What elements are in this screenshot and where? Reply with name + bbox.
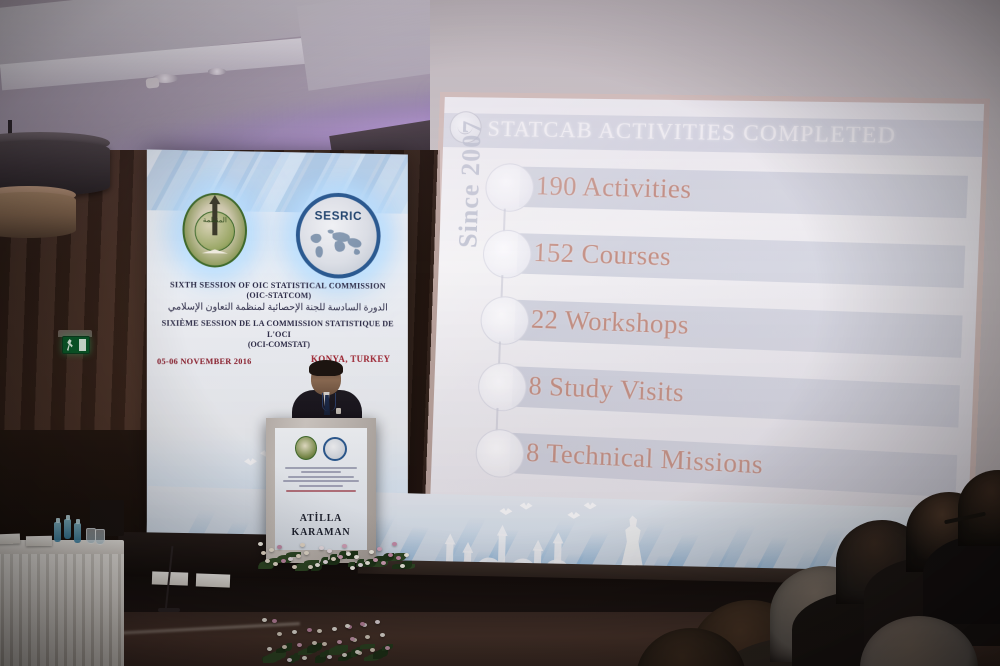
banner-title-en: SIXTH SESSION OF OIC STATISTICAL COMMISS… [155,279,400,292]
bullet-text: 152 Courses [533,238,672,273]
nameplate-first-name: ATİLLA [275,513,367,524]
flower-glyph [338,555,343,559]
banner-title-ar: الدورة السادسة للجنة الإحصائية لمنظمة ال… [155,301,400,316]
projection-screen: STATCAB ACTIVITIES COMPLETED Since 2007 … [429,97,984,559]
flower-glyph [317,629,322,633]
flower-glyph [392,542,397,546]
name-card-icon [0,534,20,545]
flower-glyph [300,543,305,547]
floral-arrangement-icon [262,616,390,666]
flower-glyph [327,549,332,553]
flower-glyph [277,545,282,549]
flower-glyph [304,551,309,555]
conference-photo-scene: المنظمة SESRIC [0,0,1000,666]
flower-glyph [345,624,350,628]
flower-glyph [267,647,272,651]
flower-glyph [322,642,327,646]
banner-text-block: SIXTH SESSION OF OIC STATISTICAL COMMISS… [147,279,408,349]
flower-glyph [380,633,385,637]
flower-glyph [327,655,332,659]
foliage-glyph [373,651,384,659]
podium-nameplate-panel: ATİLLA KARAMAN [275,428,367,550]
flower-glyph [302,656,307,660]
flower-glyph [292,630,297,634]
sesric-wordmark: SESRIC [300,208,377,223]
flower-glyph [272,619,277,623]
flower-glyph [281,559,286,563]
bullet-text: 190 Activities [535,171,692,205]
flower-glyph [269,548,274,552]
flower-glyph [337,640,342,644]
flower-glyph [370,648,375,652]
ceiling-downlight-icon [208,68,226,75]
dove-icon [499,508,512,515]
floral-arrangement-icon [258,540,408,574]
drinking-glass-icon [95,529,105,545]
flower-glyph [350,566,355,570]
world-map-glyph [306,226,369,260]
nameplate-last-name: KARAMAN [275,527,367,538]
emergency-exit-icon [62,336,90,354]
podium-nameplate: ATİLLA KARAMAN [275,513,367,538]
slide-bullet-item: 22 Workshops [492,299,493,339]
flower-glyph [373,558,378,562]
foliage-glyph [263,655,278,663]
flower-glyph [365,561,370,565]
banner-acronym-fr: (OCI-COMSTAT) [155,340,400,349]
water-bottle-icon [74,523,81,543]
flower-glyph [360,622,365,626]
flower-glyph [258,542,263,546]
flower-glyph [265,559,270,563]
flower-glyph [400,564,405,568]
flower-glyph [381,561,386,565]
sesric-globe-icon: SESRIC [296,192,381,278]
dove-icon [244,458,257,465]
table-skirt [0,554,124,666]
speaker-lanyard [322,393,336,411]
speaker-hair [309,360,343,376]
banner-acronym-en: (OIC-STATCOM) [155,290,400,300]
flower-glyph [388,553,393,557]
flower-glyph [385,646,390,650]
name-card-icon [26,536,52,546]
water-bottle-icon [54,522,61,542]
flower-glyph [377,547,382,551]
flower-glyph [342,544,347,548]
water-bottle-icon [64,519,71,539]
banner-title-fr: SIXIÈME SESSION DE LA COMMISSION STATIST… [155,317,400,340]
flower-glyph [355,650,360,654]
flower-glyph [273,562,278,566]
banner-date: 05-06 NOVEMBER 2016 [157,357,252,366]
podium-panel-text-lines [281,464,361,495]
flower-glyph [261,551,266,555]
flower-glyph [358,563,363,567]
oic-emblem-icon [295,436,317,460]
speaker-badge [336,408,341,414]
skirted-head-table [0,540,124,666]
flower-glyph [323,560,328,564]
flower-glyph [262,618,267,622]
flower-glyph [297,643,302,647]
flower-glyph [369,550,374,554]
slide-side-label: Since 2007 [453,119,488,248]
dove-icon [567,512,580,519]
ceiling-pendant-lamp-icon [0,192,76,238]
oic-arabic-script: المنظمة [184,216,245,225]
slide-bullet-item: 190 Activities [497,166,498,206]
running-man-glyph [66,339,74,351]
podium-logo-row [275,434,367,460]
banner-logo-row: المنظمة SESRIC [147,170,408,273]
projected-slide: STATCAB ACTIVITIES COMPLETED Since 2007 … [429,97,984,559]
flower-glyph [312,641,317,645]
flower-glyph [282,645,287,649]
bullet-text: 22 Workshops [531,304,690,340]
foliage-glyph [320,652,327,657]
flower-glyph [288,557,293,561]
flower-glyph [342,653,347,657]
flower-glyph [308,565,313,569]
flower-glyph [277,632,282,636]
slide-bullet-item: 152 Courses [494,233,495,273]
flower-glyph [346,552,351,556]
flower-glyph [354,555,359,559]
name-card-icon [196,573,230,587]
flower-glyph [307,628,312,632]
flower-glyph [296,554,301,558]
flower-glyph [404,553,409,557]
flower-glyph [319,546,324,550]
sesric-globe-icon [323,437,347,461]
flower-glyph [396,556,401,560]
smoke-detector-icon [146,77,160,88]
door-glyph [79,339,86,351]
slide-bullet-item: 8 Technical Missions [487,432,488,472]
oic-emblem-icon: المنظمة [182,193,247,268]
dove-icon [519,502,532,509]
flower-glyph [287,658,292,662]
flower-glyph [332,627,337,631]
flower-glyph [315,563,320,567]
flower-glyph [375,620,380,624]
foliage-glyph [307,645,318,653]
slide-bullet-item: 8 Study Visits [490,365,491,405]
flower-glyph [292,565,297,569]
flower-glyph [331,557,336,561]
flower-glyph [350,637,355,641]
flower-glyph [365,635,370,639]
dove-icon [584,502,597,509]
microphone-stand-base [158,608,180,612]
